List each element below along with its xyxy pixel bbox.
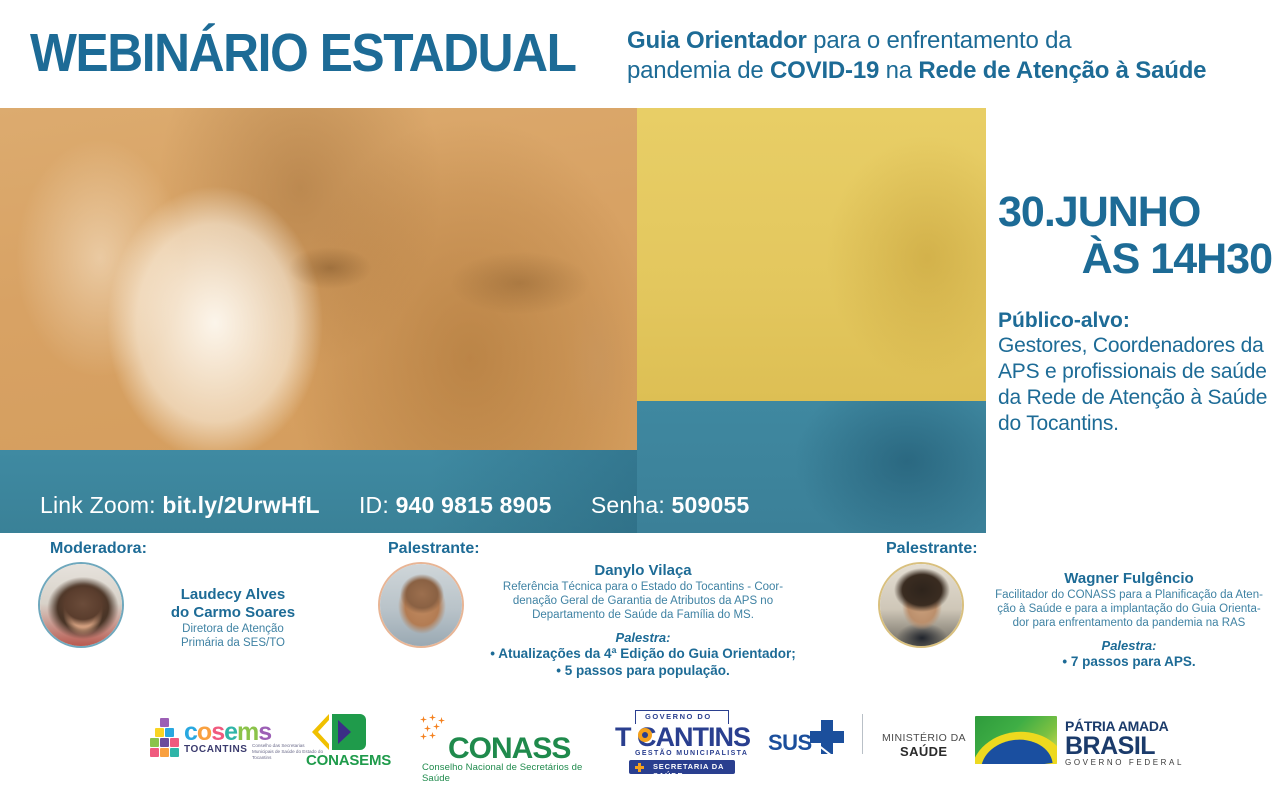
- cosems-sub-label: TOCANTINS: [184, 744, 248, 755]
- tocantins-top-label: GOVERNO DO: [645, 712, 712, 721]
- subtitle-rest-2: pandemia de: [627, 57, 770, 84]
- conasems-mark-icon: [312, 712, 370, 752]
- speaker-text-block: Laudecy Alves do Carmo Soares Diretora d…: [138, 586, 328, 650]
- zoom-link-label: Link Zoom:: [40, 492, 156, 518]
- zoom-id-label: ID:: [359, 492, 389, 518]
- sus-wordmark: SUS: [768, 730, 812, 756]
- talk-label: Palestra:: [478, 630, 808, 645]
- hero-block-yellow: [637, 108, 986, 401]
- subtitle-bold-guia: Guia Orientador: [627, 27, 807, 54]
- event-info-panel: 30.JUNHO ÀS 14H30 Público-alvo: Gestores…: [998, 190, 1280, 437]
- speaker-role: Palestrante:: [388, 540, 480, 558]
- speaker-role: Palestrante:: [886, 540, 978, 558]
- talk-label: Palestra:: [978, 638, 1280, 653]
- hero-photo-masked-faces: [0, 108, 637, 450]
- tocantins-bar-label: SECRETARIA DA SAÚDE: [653, 762, 735, 780]
- ministry-line1: MINISTÉRIO DA: [882, 732, 966, 744]
- page-title: WEBINÁRIO ESTADUAL: [30, 22, 576, 84]
- logo-conass: CONASS Conselho Nacional de Secretários …: [420, 710, 600, 772]
- logo-divider: [862, 714, 863, 754]
- event-time: ÀS 14H30: [998, 235, 1280, 283]
- speaker-title-line3: Departamento de Saúde da Família do MS.: [478, 608, 808, 622]
- speaker-name-line1: Laudecy Alves: [138, 586, 328, 604]
- sus-cross-icon: [810, 720, 844, 754]
- event-date: 30.JUNHO: [998, 190, 1280, 235]
- header: WEBINÁRIO ESTADUAL Guia Orientador para …: [0, 0, 1280, 108]
- speaker-role: Moderadora:: [50, 540, 147, 558]
- tocantins-wordmark: T CANTINS: [615, 722, 750, 753]
- speaker-title-line1: Referência Técnica para o Estado do Toca…: [478, 580, 808, 594]
- speakers-row: Moderadora: Laudecy Alves do Carmo Soare…: [0, 540, 1280, 695]
- hero-banner: [0, 108, 986, 533]
- logo-ministerio-saude: MINISTÉRIO DA SAÚDE: [882, 714, 970, 760]
- logo-patria-amada-brasil: PÁTRIA AMADA BRASIL GOVERNO FEDERAL: [975, 712, 1185, 770]
- subtitle-bold-rede: Rede de Atenção à Saúde: [918, 57, 1206, 84]
- zoom-link-value[interactable]: bit.ly/2UrwHfL: [162, 492, 319, 518]
- conass-wordmark: CONASS: [448, 732, 570, 766]
- audience-title: Público-alvo:: [998, 309, 1280, 333]
- logo-conasems: CONASEMS: [306, 708, 386, 770]
- conass-sub-label: Conselho Nacional de Secretários de Saúd…: [422, 762, 600, 784]
- speaker-title-line1: Facilitador do CONASS para a Planificaçã…: [978, 588, 1280, 602]
- speaker-title-line1: Diretora de Atenção: [138, 622, 328, 636]
- audience-body: Gestores, Coordenadores da APS e profiss…: [998, 333, 1280, 437]
- speaker-title-line2: ção à Saúde e para a implantação do Guia…: [978, 602, 1280, 616]
- speaker-title-line2: Primária da SES/TO: [138, 636, 328, 650]
- ministry-line2: SAÚDE: [900, 744, 948, 759]
- talk-item: • 7 passos para APS.: [978, 653, 1280, 670]
- speaker-text-block: Danylo Vilaça Referência Técnica para o …: [478, 562, 808, 679]
- logo-governo-tocantins: GOVERNO DO T CANTINS GESTÃO MUNICIPALIST…: [615, 712, 751, 778]
- conasems-wordmark: CONASEMS: [306, 752, 378, 769]
- tocantins-sun-icon: [638, 728, 652, 742]
- zoom-password-value: 509055: [672, 492, 750, 518]
- talk-item: • 5 passos para população.: [478, 662, 808, 679]
- subtitle-bold-covid: COVID-19: [770, 57, 879, 84]
- talk-item: • Atualizações da 4ª Edição do Guia Orie…: [478, 645, 808, 662]
- speaker-name-line1: Danylo Vilaça: [478, 562, 808, 580]
- zoom-password-label: Senha:: [591, 492, 665, 518]
- avatar-laudecy: [38, 562, 124, 648]
- logo-bar: cosems TOCANTINS Conselho das Secretaria…: [0, 700, 1280, 780]
- speaker-title-line2: denação Geral de Garantia de Atributos d…: [478, 594, 808, 608]
- speaker-name-line1: Wagner Fulgêncio: [978, 570, 1280, 588]
- subtitle-rest-3: na: [879, 57, 918, 84]
- speaker-text-block: Wagner Fulgêncio Facilitador do CONASS p…: [978, 570, 1280, 670]
- tocantins-mid-label: GESTÃO MUNICIPALISTA: [635, 750, 748, 757]
- health-cross-icon: [635, 763, 644, 772]
- speaker-name-line2: do Carmo Soares: [138, 604, 328, 622]
- logo-sus: SUS: [768, 714, 848, 760]
- brasil-line3: GOVERNO FEDERAL: [1065, 758, 1184, 767]
- tocantins-secretaria-bar: SECRETARIA DA SAÚDE: [629, 760, 735, 774]
- cosems-blocks-icon: [148, 718, 182, 758]
- subtitle-rest-1: para o enfrentamento da: [807, 27, 1072, 54]
- zoom-id-value: 940 9815 8905: [396, 492, 552, 518]
- brasil-line2: BRASIL: [1065, 732, 1155, 761]
- avatar-wagner: [878, 562, 964, 648]
- brasil-flag-icon: [975, 716, 1057, 764]
- avatar-danylo: [378, 562, 464, 648]
- speaker-title-line3: dor para enfrentamento da pandemia na RA…: [978, 616, 1280, 630]
- zoom-access-line: Link Zoom: bit.ly/2UrwHfL ID: 940 9815 8…: [40, 492, 750, 519]
- header-subtitle: Guia Orientador para o enfrentamento da …: [627, 26, 1277, 86]
